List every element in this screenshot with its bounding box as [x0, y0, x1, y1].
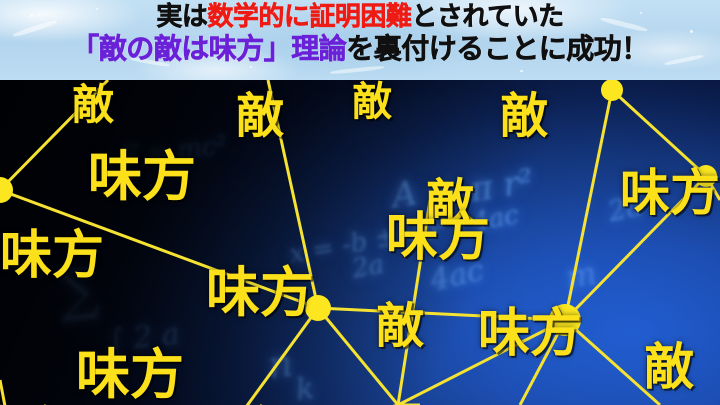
screenshot-root: 実は数学的に証明困難とされていた 「敵の敵は味方」理論を裏付けることに成功！ A…: [0, 0, 720, 405]
ally-label: 味方: [88, 150, 196, 204]
title-line-2-run-0: 「敵の敵は味方」理論: [71, 33, 346, 65]
ally-label: 味方: [620, 168, 720, 218]
ally-label: 味方: [478, 308, 582, 360]
graph-edge: [565, 90, 612, 320]
ally-label: 味方: [206, 266, 314, 320]
enemy-label: 敵: [500, 92, 548, 140]
graph-node: [601, 80, 623, 101]
title-line-2: 「敵の敵は味方」理論を裏付けることに成功！: [0, 33, 720, 65]
enemy-label: 敵: [376, 302, 424, 350]
title-line-1: 実は数学的に証明困難とされていた: [0, 2, 720, 32]
ally-label: 味方: [76, 348, 184, 402]
title-line-2-run-1: を裏付けることに成功！: [346, 33, 649, 65]
enemy-label: 敵: [352, 82, 392, 122]
banner-speck: [520, 70, 523, 72]
network-graph-image: A =π r²x = -b ± √b² - 4ac2a4ac∑nk2am∫ 2 …: [0, 80, 720, 405]
enemy-label: 敵: [644, 342, 694, 392]
enemy-label: 敵: [236, 92, 284, 140]
enemy-label: 敵: [72, 84, 114, 126]
title-line-1-run-2: とされていた: [411, 2, 563, 32]
title-line-1-run-0: 実は: [156, 2, 207, 32]
title-banner: 実は数学的に証明困難とされていた 「敵の敵は味方」理論を裏付けることに成功！: [0, 0, 720, 80]
ally-label: 味方: [0, 230, 104, 282]
graph-edge: [0, 380, 13, 405]
graph-node: [0, 177, 13, 203]
banner-speck: [250, 66, 252, 68]
ally-label: 味方: [386, 212, 490, 264]
title-line-1-run-1: 数学的に証明困難: [207, 2, 411, 32]
